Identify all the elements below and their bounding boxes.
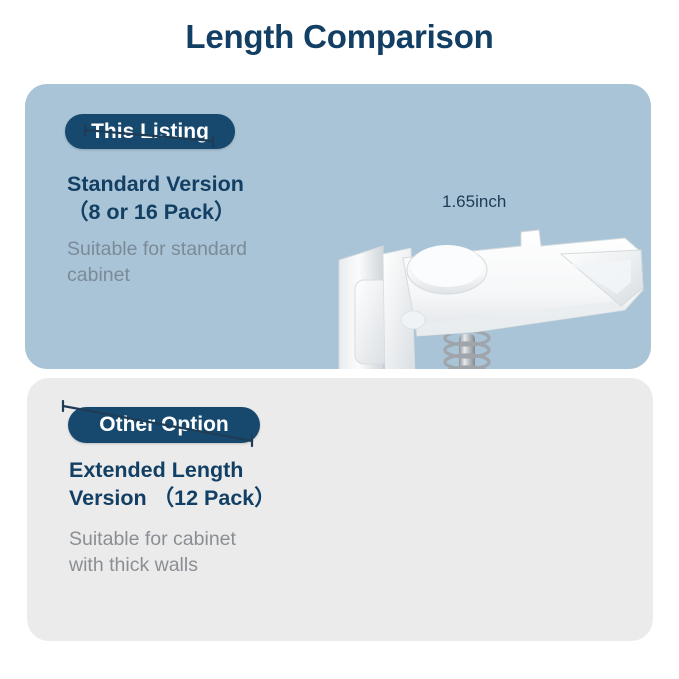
panel-this-listing: This Listing Standard Version （8 or 16 P… [25, 84, 651, 369]
panel-other-option: Other Option Extended Length Version （12… [27, 378, 653, 641]
page-title: Length Comparison [0, 18, 679, 56]
dimension-line-bottom [27, 378, 653, 641]
product-image-standard-lock [325, 224, 651, 369]
dimension-label-top: 1.65inch [442, 192, 506, 212]
